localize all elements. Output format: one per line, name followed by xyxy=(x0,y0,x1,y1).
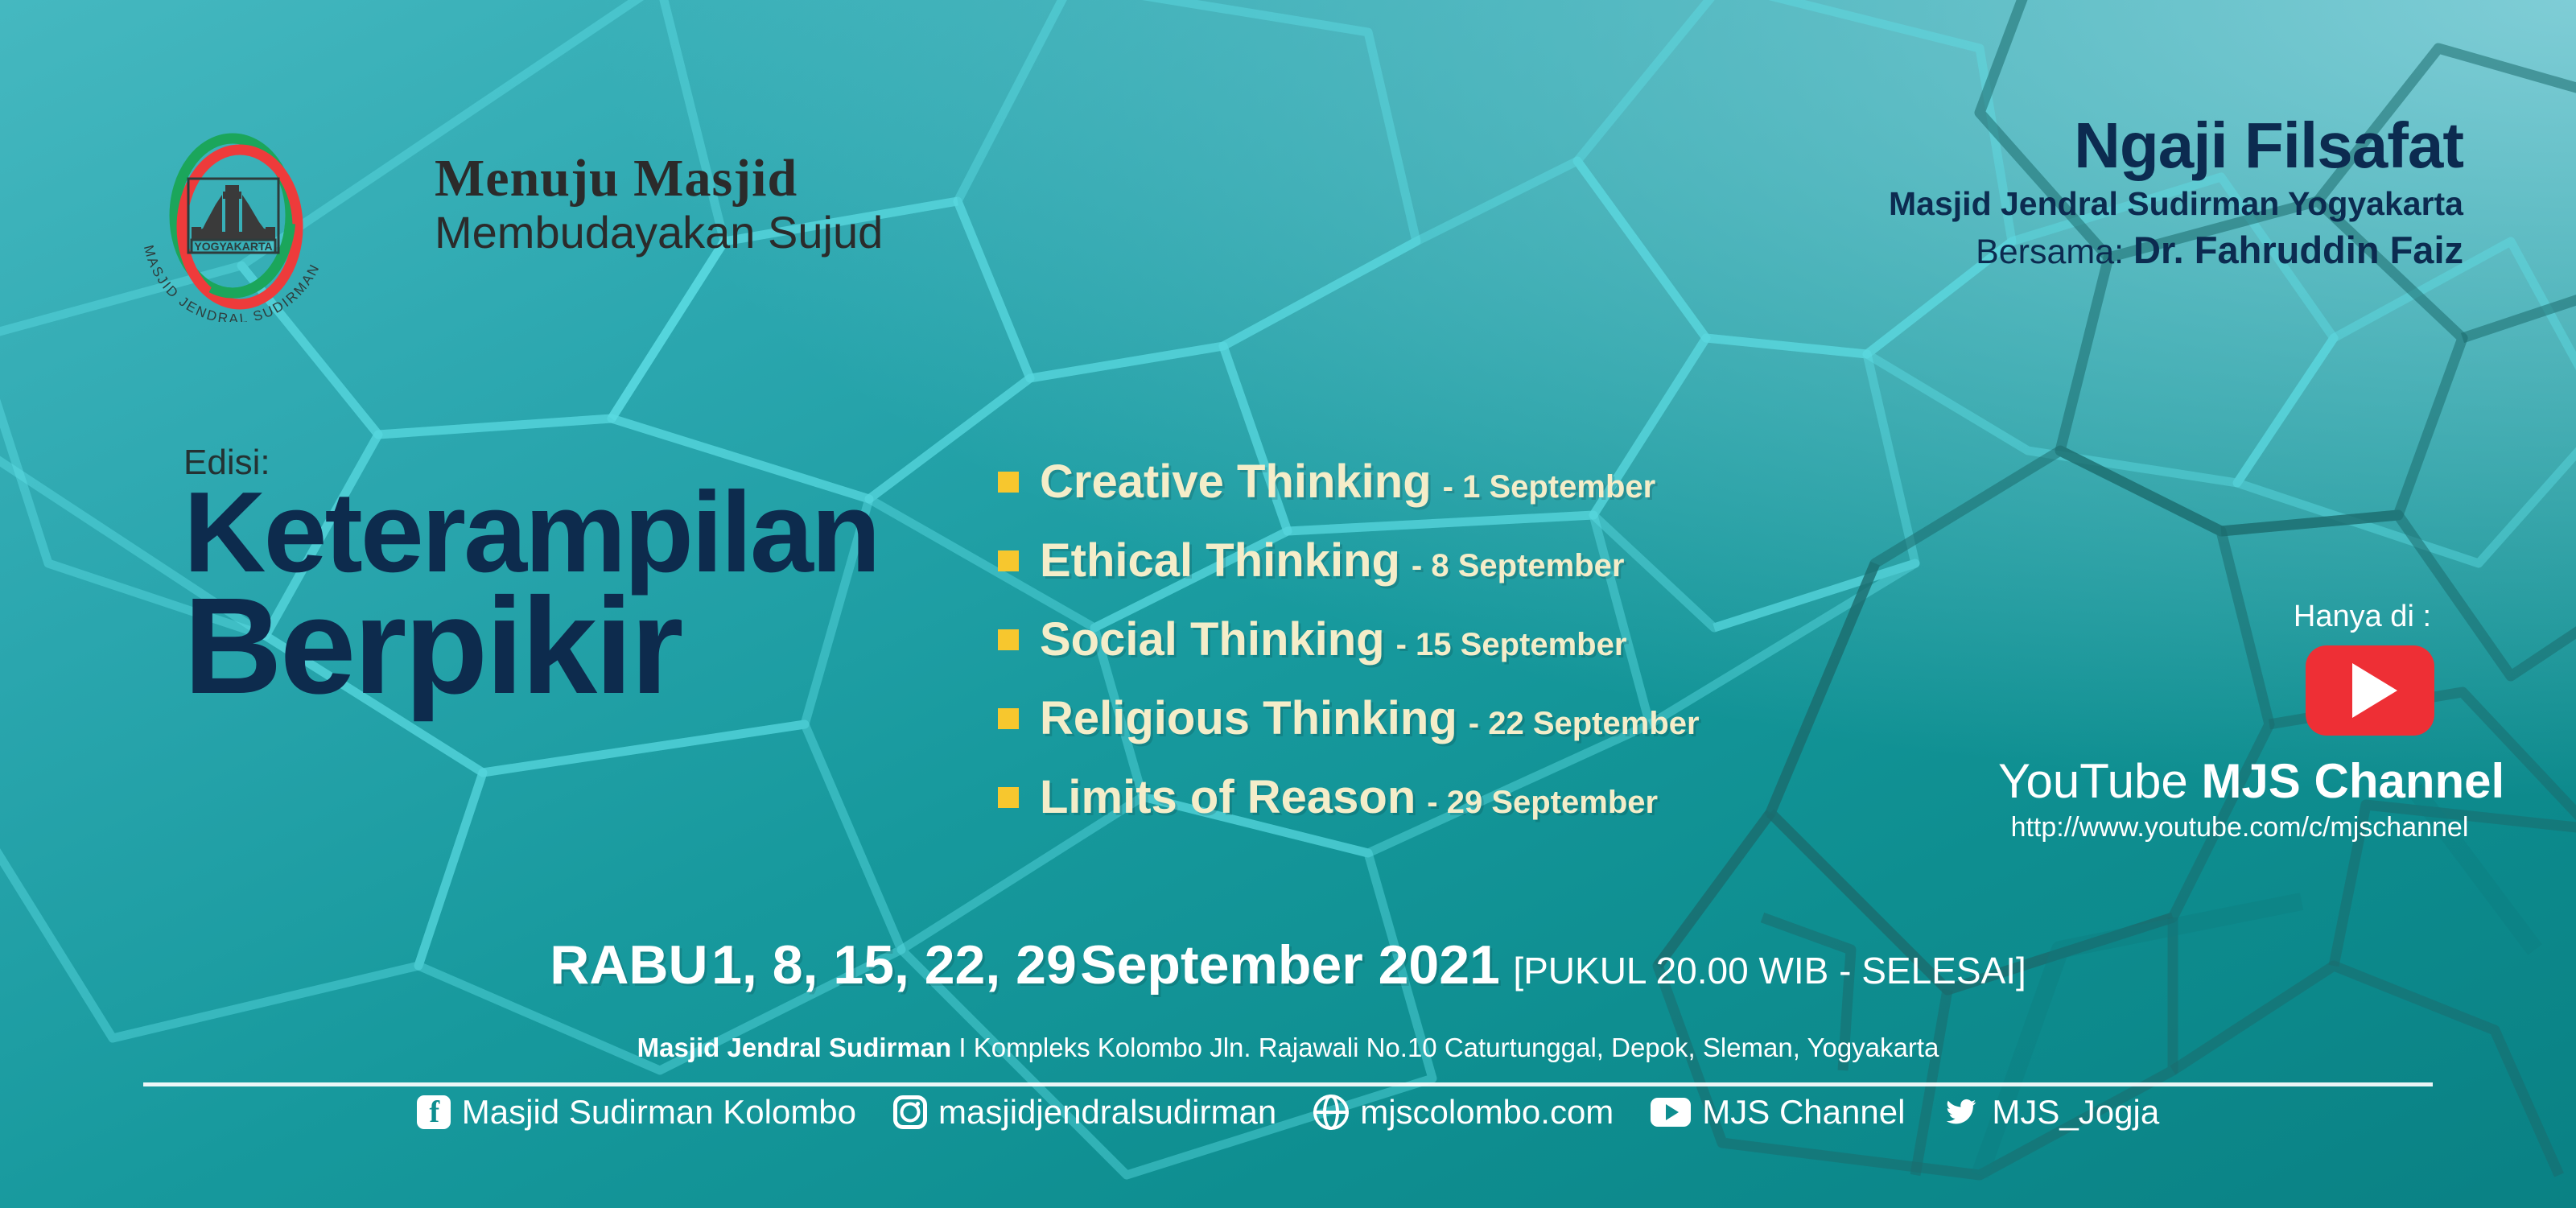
footer-divider xyxy=(143,1082,2433,1086)
tagline-line-1: Menuju Masjid xyxy=(435,151,883,207)
schedule-month-year: September 2021 xyxy=(1080,934,1500,996)
social-item-facebook[interactable]: Masjid Sudirman Kolombo xyxy=(417,1093,856,1132)
social-label: MJS_Jogja xyxy=(1992,1093,2159,1132)
tagline-line-2: Membudayakan Sujud xyxy=(435,208,883,257)
venue-address-rest: I Kompleks Kolombo Jln. Rajawali No.10 C… xyxy=(951,1033,1939,1062)
session-title: Religious Thinking xyxy=(1040,691,1457,745)
youtube-url[interactable]: http://www.youtube.com/c/mjschannel xyxy=(1998,812,2481,843)
youtube-platform: YouTube xyxy=(1998,754,2188,808)
session-date: - 22 September xyxy=(1469,706,1700,742)
bullet-square-icon xyxy=(998,472,1019,493)
session-title: Creative Thinking xyxy=(1040,455,1432,509)
youtube-block: Hanya di : YouTube MJS Channel http://ww… xyxy=(1998,600,2481,843)
schedule-strip: RABU 1, 8, 15, 22, 29 September 2021 [PU… xyxy=(0,934,2576,996)
instagram-icon xyxy=(893,1095,927,1129)
twitter-icon xyxy=(1942,1096,1980,1128)
social-label: mjscolombo.com xyxy=(1360,1093,1614,1132)
session-item: Social Thinking - 15 September xyxy=(998,612,1700,666)
only-at-label: Hanya di : xyxy=(1998,600,2481,634)
logo-inner-label: YOGYAKARTA xyxy=(194,240,272,253)
organizer-name: Masjid Jendral Sudirman Yogyakarta xyxy=(1889,183,2463,225)
venue-name: Masjid Jendral Sudirman xyxy=(637,1033,952,1062)
edition-title: Keterampilan Berpikir xyxy=(183,483,879,707)
social-footer: Masjid Sudirman Kolombo masjidjendralsud… xyxy=(0,1093,2576,1132)
session-date: - 29 September xyxy=(1427,785,1658,821)
bullet-square-icon xyxy=(998,629,1019,650)
schedule-day: RABU xyxy=(550,934,707,996)
social-item-youtube[interactable]: MJS Channel xyxy=(1651,1093,1905,1132)
program-title: Ngaji Filsafat xyxy=(1889,113,2463,179)
poster-canvas: YOGYAKARTA MASJID JENDRAL SUDIRMAN Menuj… xyxy=(0,0,2576,1208)
session-title: Ethical Thinking xyxy=(1040,534,1400,588)
mjs-logo: YOGYAKARTA MASJID JENDRAL SUDIRMAN xyxy=(126,121,343,322)
social-label: masjidjendralsudirman xyxy=(938,1093,1276,1132)
edition-title-line-2: Berpikir xyxy=(183,587,879,707)
globe-icon xyxy=(1313,1095,1349,1130)
session-title: Social Thinking xyxy=(1040,612,1385,666)
session-date: - 8 September xyxy=(1412,548,1625,584)
mosque-silhouette-icon xyxy=(192,185,275,240)
session-list: Creative Thinking - 1 September Ethical … xyxy=(998,455,1700,849)
youtube-icon xyxy=(1651,1098,1691,1127)
schedule-time: [PUKUL 20.00 WIB - SELESAI] xyxy=(1513,950,2026,992)
social-item-twitter[interactable]: MJS_Jogja xyxy=(1942,1093,2159,1132)
social-item-instagram[interactable]: masjidjendralsudirman xyxy=(893,1093,1276,1132)
social-label: Masjid Sudirman Kolombo xyxy=(462,1093,856,1132)
youtube-channel-line: YouTube MJS Channel xyxy=(1998,753,2481,809)
session-date: - 1 September xyxy=(1443,469,1656,505)
session-date: - 15 September xyxy=(1396,627,1627,663)
facebook-icon xyxy=(417,1095,451,1129)
social-item-website[interactable]: mjscolombo.com xyxy=(1313,1093,1614,1132)
speaker-prefix: Bersama: xyxy=(1976,233,2124,271)
session-item: Limits of Reason - 29 September xyxy=(998,770,1700,824)
bullet-square-icon xyxy=(998,708,1019,729)
speaker-line: Bersama: Dr. Fahruddin Faiz xyxy=(1889,228,2463,274)
session-item: Ethical Thinking - 8 September xyxy=(998,534,1700,588)
session-item: Creative Thinking - 1 September xyxy=(998,455,1700,509)
social-label: MJS Channel xyxy=(1702,1093,1905,1132)
speaker-name: Dr. Fahruddin Faiz xyxy=(2133,229,2463,271)
session-item: Religious Thinking - 22 September xyxy=(998,691,1700,745)
bullet-square-icon xyxy=(998,787,1019,808)
play-triangle-icon xyxy=(2352,663,2397,718)
bullet-square-icon xyxy=(998,550,1019,571)
youtube-channel-name: MJS Channel xyxy=(2201,754,2504,808)
tagline: Menuju Masjid Membudayakan Sujud xyxy=(435,151,883,257)
session-title: Limits of Reason xyxy=(1040,770,1416,824)
schedule-dates: 1, 8, 15, 22, 29 xyxy=(711,934,1077,996)
venue-address: Masjid Jendral Sudirman I Kompleks Kolom… xyxy=(0,1033,2576,1063)
youtube-play-icon[interactable] xyxy=(2306,645,2434,736)
header-right: Ngaji Filsafat Masjid Jendral Sudirman Y… xyxy=(1889,113,2463,273)
